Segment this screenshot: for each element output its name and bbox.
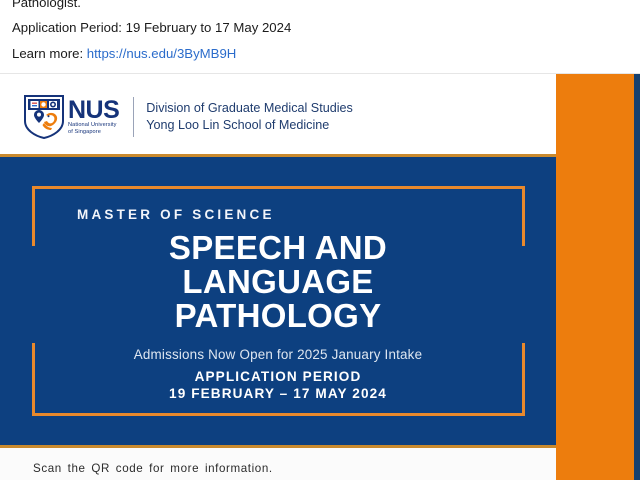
application-period-block: APPLICATION PERIOD 19 FEBRUARY – 17 MAY … (0, 368, 556, 402)
frame-segment-top (32, 186, 525, 189)
headline-line-3: PATHOLOGY (0, 299, 556, 333)
nus-crest-icon (24, 95, 64, 139)
nus-sub-line-1: National University (68, 122, 119, 129)
learn-more-label: Learn more: (12, 46, 87, 61)
nus-logo-block: NUS National University of Singapore Div… (24, 95, 353, 139)
faculty-line-school: Yong Loo Lin School of Medicine (146, 117, 353, 134)
orange-side-band (556, 74, 634, 480)
nus-wordmark-block: NUS National University of Singapore (68, 98, 119, 136)
document-line-application-period: Application Period: 19 February to 17 Ma… (12, 21, 291, 35)
nus-sub-line-2: of Singapore (68, 129, 119, 136)
qr-caption-text: Scan the QR code for more information. (33, 462, 333, 476)
eyebrow-text: MASTER OF SCIENCE (77, 207, 275, 222)
nus-wordmark: NUS (68, 98, 119, 122)
application-period-label: APPLICATION PERIOD (0, 368, 556, 385)
headline-line-2: LANGUAGE (0, 265, 556, 299)
right-navy-edge (634, 74, 640, 480)
flyer-header: NUS National University of Singapore Div… (0, 74, 556, 155)
document-text-block: Pathologist. Application Period: 19 Febr… (0, 0, 640, 74)
faculty-line-division: Division of Graduate Medical Studies (146, 100, 353, 117)
document-line-pathologist: Pathologist. (12, 0, 81, 10)
headline-line-1: SPEECH AND (0, 231, 556, 265)
application-period-dates: 19 FEBRUARY – 17 MAY 2024 (0, 385, 556, 402)
frame-segment-bottom (32, 413, 525, 416)
document-line-learn-more: Learn more: https://nus.edu/3ByMB9H (12, 47, 236, 61)
headline-block: SPEECH AND LANGUAGE PATHOLOGY (0, 231, 556, 333)
admissions-text: Admissions Now Open for 2025 January Int… (0, 347, 556, 362)
logo-divider (133, 97, 134, 137)
faculty-name-block: Division of Graduate Medical Studies Yon… (146, 100, 353, 134)
flyer-image: NUS National University of Singapore Div… (0, 74, 640, 480)
learn-more-link[interactable]: https://nus.edu/3ByMB9H (87, 46, 237, 61)
